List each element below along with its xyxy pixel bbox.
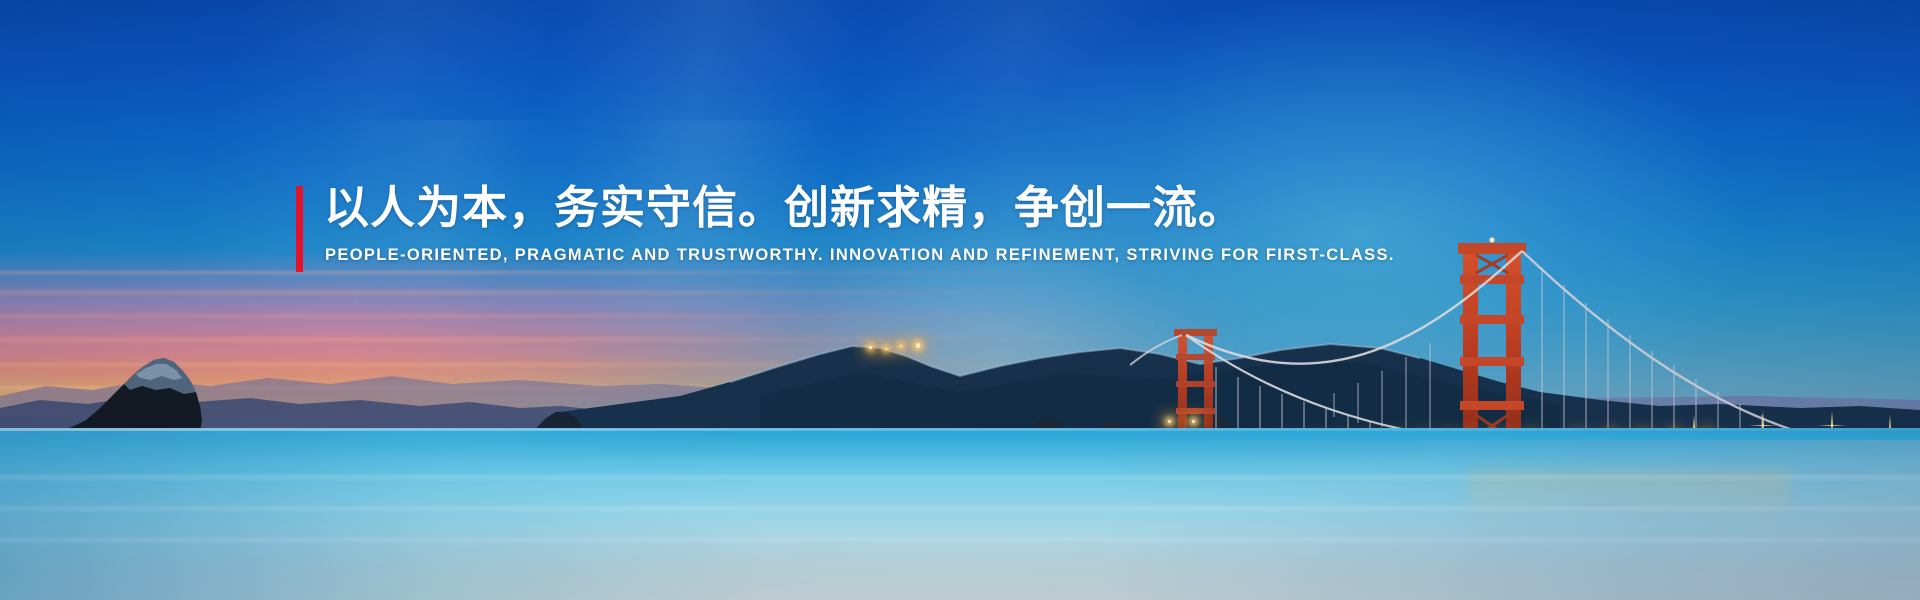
ridge-light: [916, 343, 920, 348]
bridge-lamp: [1192, 420, 1195, 423]
page-title: 以人为本，务实守信。创新求精，争创一流。: [324, 180, 1244, 236]
bridge-starburst-lamp: [1831, 424, 1833, 426]
hero-banner: 以人为本，务实守信。创新求精，争创一流。 PEOPLE-ORIENTED, PR…: [0, 0, 1920, 600]
accent-bar: [296, 186, 303, 272]
bridge-lamp: [1168, 420, 1171, 423]
bridge-starburst-lamp: [1762, 424, 1764, 426]
ridge-light: [885, 348, 887, 350]
ridge-light: [900, 345, 902, 347]
ridge-light: [869, 346, 872, 349]
page-subtitle: PEOPLE-ORIENTED, PRAGMATIC AND TRUSTWORT…: [325, 246, 1395, 265]
bridge-light-reflection: [1470, 470, 1790, 530]
waterline: [0, 428, 1920, 431]
